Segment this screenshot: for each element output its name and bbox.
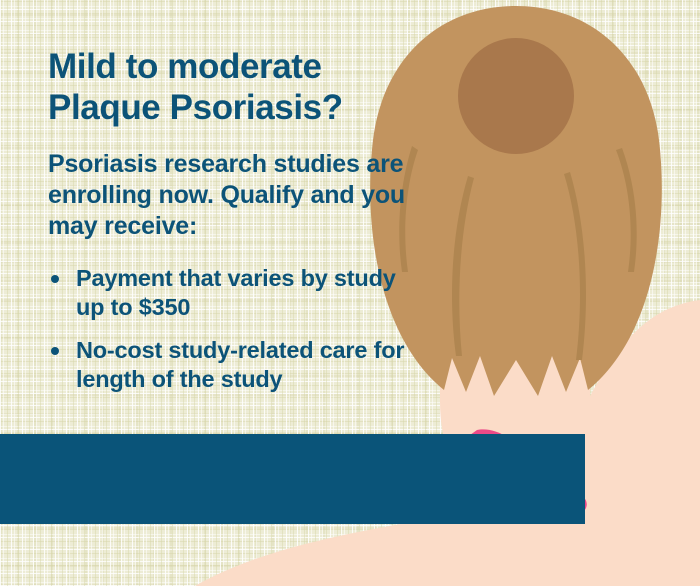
advertisement-banner: Mild to moderate Plaque Psoriasis? Psori… xyxy=(0,0,700,586)
list-item: Payment that varies by study up to $350 xyxy=(48,264,418,322)
brand-color-band xyxy=(0,434,585,524)
benefits-list: Payment that varies by study up to $350 … xyxy=(48,264,418,394)
headline-line-1: Mild to moderate xyxy=(48,47,322,86)
list-item-label: No-cost study-related care for length of… xyxy=(76,337,404,392)
bullet-dot-icon xyxy=(51,275,59,283)
copy-block: Mild to moderate Plaque Psoriasis? Psori… xyxy=(48,46,418,408)
list-item-label: Payment that varies by study up to $350 xyxy=(76,265,396,320)
subheadline-text: Psoriasis research studies are enrolling… xyxy=(48,149,418,242)
page-title: Mild to moderate Plaque Psoriasis? xyxy=(48,46,418,128)
bullet-dot-icon xyxy=(51,347,59,355)
headline-line-2: Plaque Psoriasis? xyxy=(48,88,343,127)
hair-bun-shape xyxy=(458,38,574,154)
list-item: No-cost study-related care for length of… xyxy=(48,336,418,394)
